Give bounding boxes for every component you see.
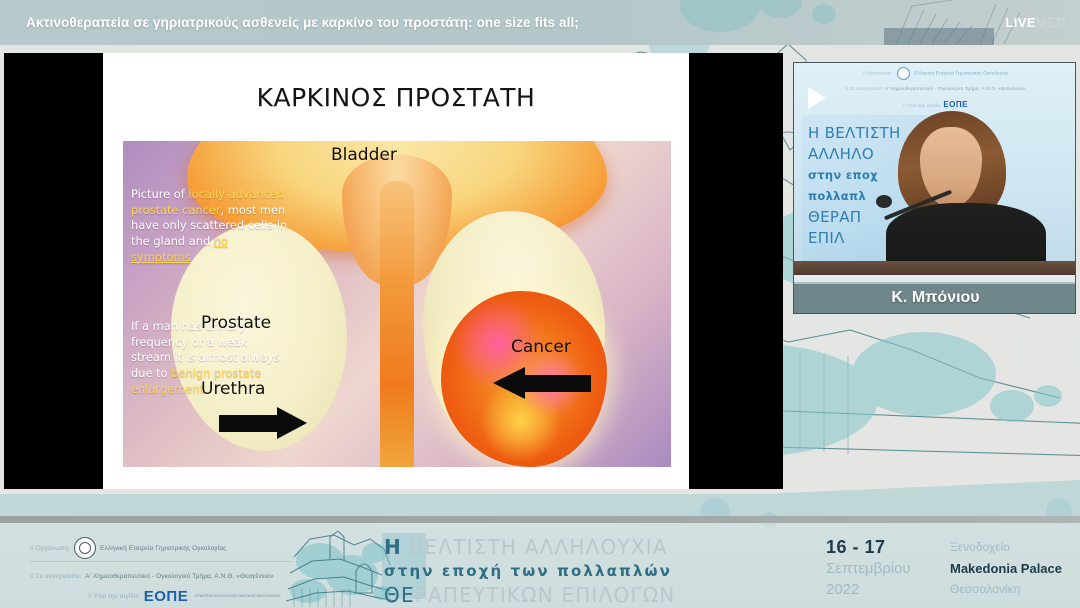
footer-organizer-row: \\ Οργάνωση: Ελληνική Εταιρεία Γηριατρικ…: [30, 537, 320, 559]
event-title-line-3: ΘΕΡΑΠΕΥΤΙΚΩΝ ΕΠΙΛΟΓΩΝ: [384, 583, 714, 607]
event-venue: Ξενοδοχείο Makedonia Palace Θεσσαλονίκη: [950, 537, 1062, 600]
speaker-banner-collab-row: \\ Σε συνεργασία: Α' Χημειοθεραπευτικό -…: [794, 83, 1076, 94]
speaker-name: Κ. Μπόνιου: [891, 289, 979, 307]
event-date-month: Σεπτεμβρίου: [826, 558, 911, 579]
event-date-year: 2022: [826, 579, 911, 600]
slide-title: ΚΑΡΚΙΝΟΣ ΠΡΟΣΤΑΤΗ: [103, 83, 689, 112]
livemed-logo-live: LIVE: [1005, 15, 1036, 30]
footer-organizer: Ελληνική Εταιρεία Γηριατρικής Ογκολογίας: [100, 543, 226, 554]
slide-content: ΚΑΡΚΙΝΟΣ ΠΡΟΣΤΑΤΗ Picture of locally adv…: [103, 53, 689, 489]
event-title-line-1-accent: Η: [384, 535, 402, 559]
event-title-line-1: Η ΒΕΛΤΙΣΤΗ ΑΛΛΗΛΟΥΧΙΑ: [384, 535, 714, 559]
footer-collab-row: \\ Σε συνεργασία: Α' Χημειοθεραπευτικό -…: [30, 571, 320, 582]
event-date-day: 16 - 17: [826, 537, 911, 558]
speaker-name-bar: Κ. Μπόνιου: [794, 282, 1076, 313]
footer-auspices-label: \\ Υπό την αιγίδα:: [88, 591, 140, 602]
player-stage: Ακτινοθεραπεία σε γηριατρικούς ασθενείς …: [0, 0, 1080, 608]
slide-video-player[interactable]: ΚΑΡΚΙΝΟΣ ΠΡΟΣΤΑΤΗ Picture of locally adv…: [4, 53, 783, 489]
banner-organizer-label: \\ Οργάνωση:: [862, 71, 892, 76]
event-title: Η ΒΕΛΤΙΣΤΗ ΑΛΛΗΛΟΥΧΙΑ στην εποχή των πολ…: [384, 535, 714, 607]
livemed-logo-med: MED: [1036, 15, 1066, 30]
speaker-figure: [890, 111, 1038, 284]
screen-line-2: ΑΛΛΗΛΟ: [808, 144, 901, 165]
speaker-video-player[interactable]: \\ Οργάνωση: Ελληνική Εταιρεία Γηριατρικ…: [793, 62, 1076, 314]
society-seal-icon: [897, 67, 910, 80]
eope-logo: ΕΟΠΕ: [943, 100, 968, 109]
footer-collab: Α' Χημειοθεραπευτικό - Ογκολογικό Τμήμα,…: [85, 571, 273, 582]
society-seal-icon: [74, 537, 96, 559]
speaker-video-feed: \\ Οργάνωση: Ελληνική Εταιρεία Γηριατρικ…: [794, 63, 1076, 284]
label-prostate: Prostate: [201, 313, 271, 333]
banner-collab: Α' Χημειοθεραπευτικό - Ογκολογικό Τμήμα,…: [885, 86, 1026, 91]
screen-line-3: στην εποχ: [808, 165, 901, 186]
eope-logo-subtitle: ΕΤΑΙΡΕΙΑ ΟΓΚΟΛΟΓΩΝ ΠΑΘΟΛΟΓΩΝ ΕΛΛΑΔΑΣ: [195, 594, 281, 598]
footer-body: \\ Οργάνωση: Ελληνική Εταιρεία Γηριατρικ…: [0, 523, 1080, 608]
banner-collab-label: \\ Σε συνεργασία:: [845, 86, 883, 91]
event-venue-name: Makedonia Palace: [950, 558, 1062, 579]
podium-desk: [794, 261, 1076, 284]
diagram-p1-seg1: Picture of: [131, 187, 188, 201]
app-header: Ακτινοθεραπεία σε γηριατρικούς ασθενείς …: [0, 0, 1080, 45]
banner-auspices-label: \\ Υπό την αιγίδα:: [903, 103, 942, 108]
event-title-line-3-accent: ΘΕ: [384, 583, 415, 607]
label-bladder: Bladder: [331, 145, 397, 165]
eope-logo: ΕΟΠΕ: [144, 591, 189, 602]
speaker-banner-auspices-row: \\ Υπό την αιγίδα: ΕΟΠΕ: [794, 99, 1076, 111]
event-footer: \\ Οργάνωση: Ελληνική Εταιρεία Γηριατρικ…: [0, 516, 1080, 608]
footer-organizer-label: \\ Οργάνωση:: [30, 543, 70, 554]
banner-organizer: Ελληνική Εταιρεία Γηριατρικής Ογκολογίας: [914, 71, 1008, 76]
event-venue-city: Θεσσαλονίκη: [950, 579, 1062, 600]
prostate-anatomy-diagram: Picture of locally advanced prostate can…: [123, 141, 671, 467]
footer-divider: [0, 516, 1080, 523]
page-title: Ακτινοθεραπεία σε γηριατρικούς ασθενείς …: [26, 0, 579, 45]
speaker-banner-organizer-row: \\ Οργάνωση: Ελληνική Εταιρεία Γηριατρικ…: [794, 67, 1076, 80]
footer-hairline: [30, 561, 292, 562]
screen-line-1: Η ΒΕΛΤΙΣΤΗ: [808, 123, 901, 144]
label-cancer: Cancer: [511, 337, 571, 357]
footer-organizer-block: \\ Οργάνωση: Ελληνική Εταιρεία Γηριατρικ…: [30, 537, 320, 602]
label-urethra: Urethra: [201, 379, 265, 399]
event-venue-label: Ξενοδοχείο: [950, 537, 1062, 558]
microphone-icon: [876, 195, 892, 208]
livemed-logo[interactable]: LIVEMED: [1005, 0, 1066, 45]
event-date: 16 - 17 Σεπτεμβρίου 2022: [826, 537, 911, 600]
event-title-line-3-rest: ΡΑΠΕΥΤΙΚΩΝ ΕΠΙΛΟΓΩΝ: [415, 583, 676, 607]
urethra-shape: [380, 181, 414, 467]
event-title-line-1-rest: ΒΕΛΤΙΣΤΗ ΑΛΛΗΛΟΥΧΙΑ: [402, 535, 668, 559]
diagram-paragraph-1: Picture of locally advanced prostate can…: [131, 187, 289, 266]
play-icon[interactable]: [808, 87, 826, 109]
event-title-line-2: στην εποχή των πολλαπλών: [384, 559, 714, 583]
footer-collab-label: \\ Σε συνεργασία:: [30, 571, 81, 582]
